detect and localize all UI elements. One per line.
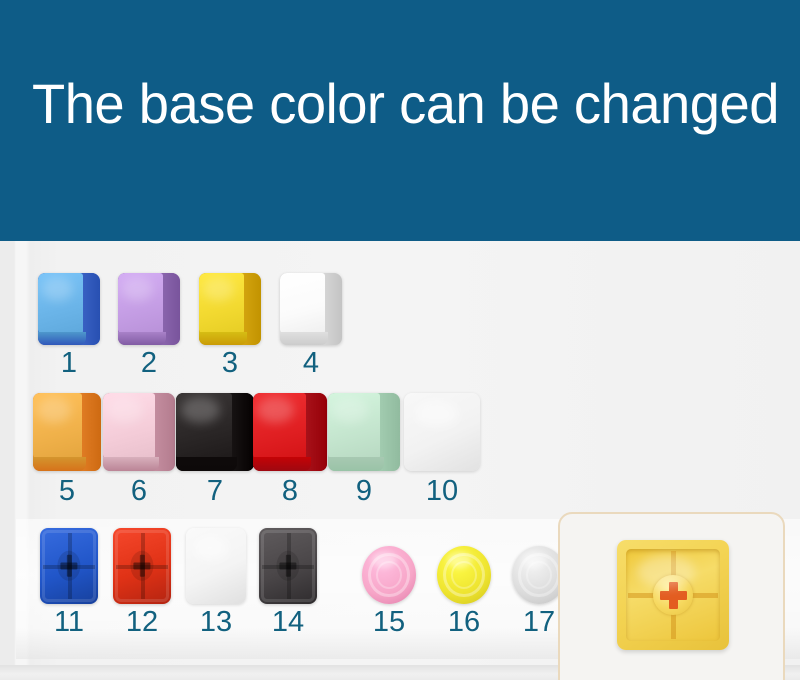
keycap-highlight	[122, 277, 153, 301]
keycap-swatch-10[interactable]	[404, 393, 480, 471]
detail-panel	[558, 512, 785, 680]
keycap-swatch-12[interactable]	[113, 528, 171, 604]
round-cap-body	[437, 546, 491, 604]
keycap-highlight	[415, 401, 459, 428]
keycap-body	[38, 273, 100, 345]
keycap-underside	[259, 528, 317, 604]
keycap-front-lip	[199, 332, 247, 345]
keycap-color-chart-page: The base color can be changed 1234 56789…	[0, 0, 800, 680]
keycap-body	[176, 393, 254, 471]
keycap-swatch-9[interactable]	[328, 393, 400, 471]
keycap-front-lip	[328, 457, 384, 471]
keycap-front-lip	[38, 332, 86, 345]
keycap-swatch-4[interactable]	[280, 273, 342, 345]
keycap-swatch-11[interactable]	[40, 528, 98, 604]
cross-stem-horizontal-icon	[660, 591, 687, 600]
keycap-swatch-6[interactable]	[103, 393, 175, 471]
keycap-body	[103, 393, 175, 471]
keycap-highlight	[42, 277, 73, 301]
swatch-number-label-10: 10	[390, 477, 494, 506]
keycap-front-lip	[280, 332, 328, 345]
keycap-front-lip	[103, 457, 159, 471]
keycap-underside	[113, 528, 171, 604]
keycap-highlight	[203, 277, 234, 301]
keycap-swatch-16[interactable]	[437, 546, 491, 604]
keycap-body	[186, 528, 246, 604]
keycap-highlight	[181, 397, 220, 424]
keycap-underside	[40, 528, 98, 604]
keycap-front-lip	[33, 457, 86, 471]
header-banner: The base color can be changed	[0, 0, 800, 241]
keycap-highlight	[194, 536, 229, 562]
keycap-swatch-13[interactable]	[186, 528, 246, 604]
keycap-swatch-1[interactable]	[38, 273, 100, 345]
row-1-standard-caps: 1234	[0, 241, 800, 371]
keycap-body	[118, 273, 180, 345]
round-cap-body	[362, 546, 416, 604]
product-photo-area: 1234 5678910 11121314151617	[0, 241, 800, 680]
keycap-front-lip	[253, 457, 311, 471]
keycap-highlight	[284, 277, 315, 301]
keycap-swatch-5[interactable]	[33, 393, 101, 471]
keycap-body	[33, 393, 101, 471]
keycap-body	[404, 393, 480, 471]
keycap-body	[253, 393, 327, 471]
round-cap-highlight	[372, 552, 397, 568]
keycap-swatch-3[interactable]	[199, 273, 261, 345]
keycap-front-lip	[118, 332, 166, 345]
row-2-standard-caps: 5678910	[0, 371, 800, 491]
swatch-number-label-16: 16	[423, 608, 505, 637]
keycap-swatch-8[interactable]	[253, 393, 327, 471]
keycap-underside-detail	[617, 540, 729, 650]
keycap-swatch-14[interactable]	[259, 528, 317, 604]
keycap-body	[199, 273, 261, 345]
keycap-swatch-2[interactable]	[118, 273, 180, 345]
keycap-body	[280, 273, 342, 345]
round-cap-highlight	[447, 552, 472, 568]
page-title: The base color can be changed	[32, 72, 779, 136]
round-cap-highlight	[522, 552, 547, 568]
keycap-swatch-7[interactable]	[176, 393, 254, 471]
keycap-front-lip	[176, 457, 237, 471]
swatch-number-label-14: 14	[245, 608, 331, 637]
swatch-number-label-15: 15	[348, 608, 430, 637]
keycap-swatch-15[interactable]	[362, 546, 416, 604]
keycap-body	[328, 393, 400, 471]
